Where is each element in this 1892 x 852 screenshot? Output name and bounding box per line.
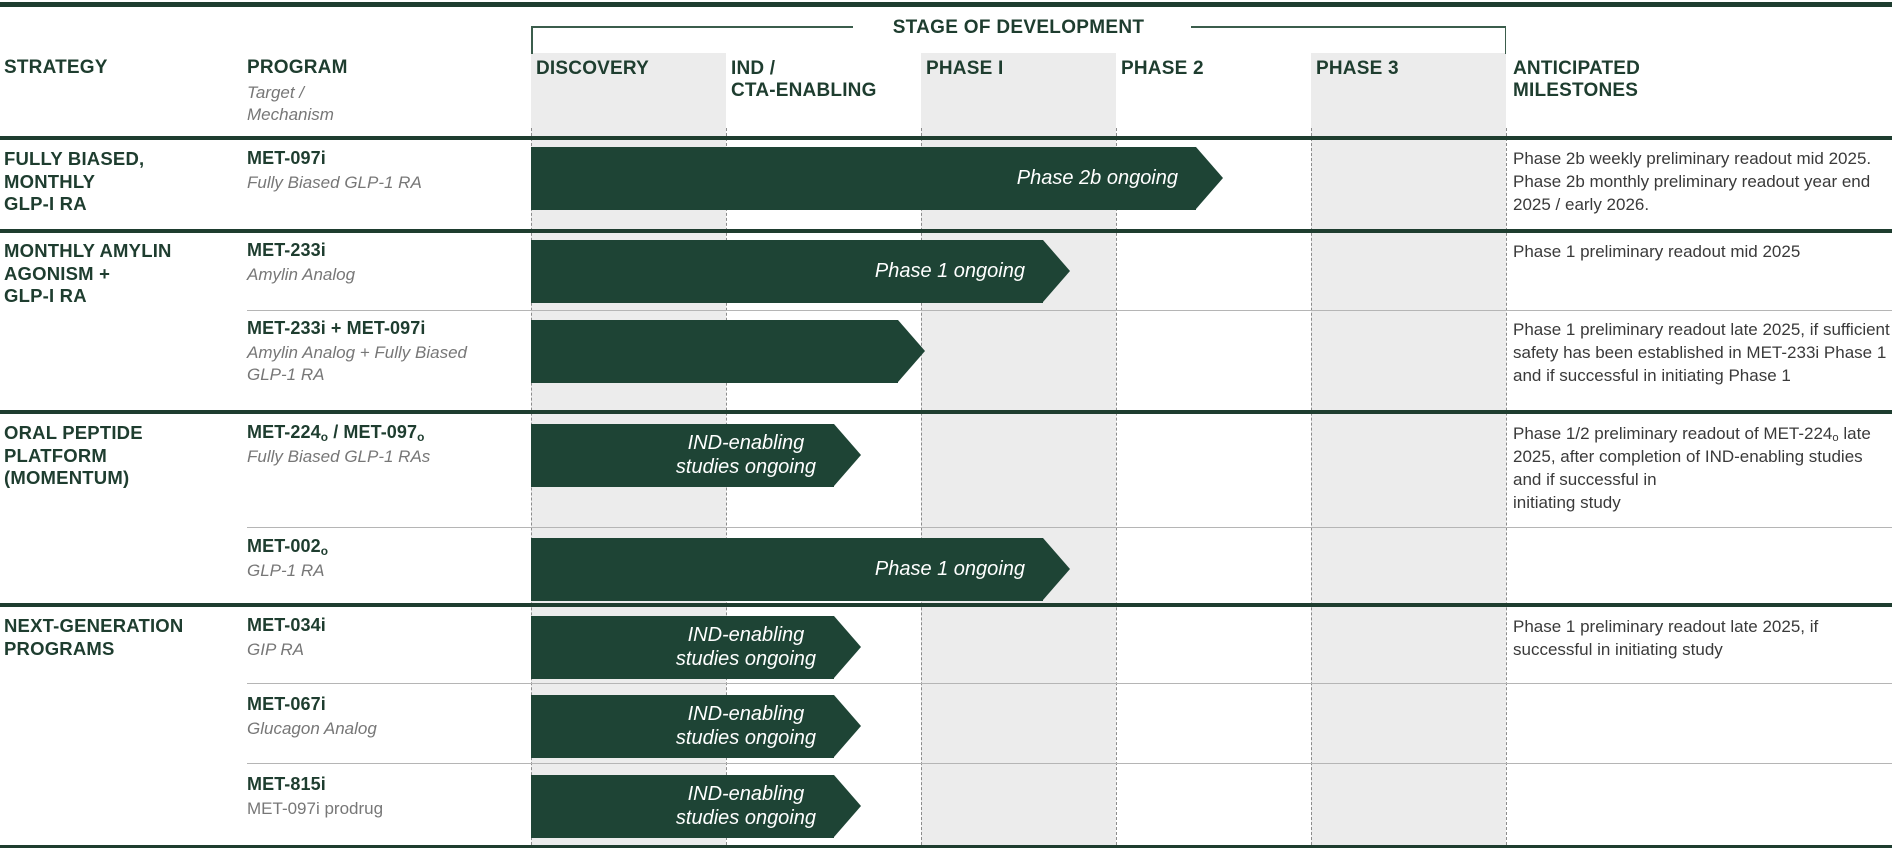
program-met-233i-plus-met-097i: MET-233i + MET-097i Amylin Analog + Full… xyxy=(247,318,522,386)
stage-bar-met-224o-met-097o[interactable]: IND-enabling studies ongoing xyxy=(531,424,834,487)
header-stage-phase-1: PHASE I xyxy=(926,58,1003,80)
arrow-tip-icon xyxy=(1196,147,1223,209)
stage-bar-label: IND-enabling studies ongoing xyxy=(676,783,834,829)
program-mechanism: Fully Biased GLP-1 RA xyxy=(247,172,522,194)
program-met-034i: MET-034i GIP RA xyxy=(247,615,522,661)
program-met-067i: MET-067i Glucagon Analog xyxy=(247,694,522,740)
program-mechanism: Glucagon Analog xyxy=(247,718,522,740)
strategy-next-generation-programs: NEXT-GENERATION PROGRAMS xyxy=(4,615,242,660)
stage-bar-label: IND-enabling studies ongoing xyxy=(676,432,834,478)
arrow-tip-icon xyxy=(898,320,925,382)
program-mechanism: GLP-1 RA xyxy=(247,560,522,582)
stage-bar-met-002o[interactable]: Phase 1 ongoing xyxy=(531,538,1043,601)
header-stage-phase-2: PHASE 2 xyxy=(1121,58,1204,80)
strategy-oral-peptide-platform-momentum: ORAL PEPTIDE PLATFORM (MOMENTUM) xyxy=(4,422,242,490)
program-name: MET-233i + MET-097i xyxy=(247,318,425,338)
sub-rule-4b xyxy=(247,763,1892,764)
program-name: MET-815i xyxy=(247,774,326,794)
header-program: PROGRAM Target / Mechanism xyxy=(247,57,348,126)
top-rule xyxy=(0,2,1892,7)
header-program-sub: Target / Mechanism xyxy=(247,82,348,126)
program-name: MET-224o / MET-097o xyxy=(247,422,424,442)
pipeline-chart: STAGE OF DEVELOPMENT STRATEGY PROGRAM Ta… xyxy=(0,0,1892,852)
stage-of-development-title: STAGE OF DEVELOPMENT xyxy=(531,17,1506,39)
program-met-815i: MET-815i MET-097i prodrug xyxy=(247,774,522,820)
stage-bar-met-034i[interactable]: IND-enabling studies ongoing xyxy=(531,616,834,679)
milestone-met-224o-met-097o: Phase 1/2 preliminary readout of MET-224… xyxy=(1513,422,1891,514)
column-divider-phase1 xyxy=(921,128,922,845)
arrow-tip-icon xyxy=(1043,538,1070,600)
arrow-tip-icon xyxy=(834,616,861,678)
section-rule-2 xyxy=(0,229,1892,233)
strategy-fully-biased-monthly-glp1-ra: FULLY BIASED, MONTHLY GLP-I RA xyxy=(4,148,242,216)
stage-bar-met-233i[interactable]: Phase 1 ongoing xyxy=(531,240,1043,303)
sub-rule-4a xyxy=(247,683,1892,684)
milestone-met-097i: Phase 2b weekly preliminary readout mid … xyxy=(1513,147,1891,216)
header-program-label: PROGRAM xyxy=(247,57,348,78)
stage-bar-label: Phase 1 ongoing xyxy=(875,260,1043,283)
column-band-phase3 xyxy=(1311,53,1506,845)
stage-bar-label: IND-enabling studies ongoing xyxy=(676,624,834,670)
arrow-tip-icon xyxy=(834,424,861,486)
column-divider-phase3 xyxy=(1311,128,1312,845)
section-rule-3 xyxy=(0,410,1892,414)
program-mechanism: Fully Biased GLP-1 RAs xyxy=(247,446,522,468)
section-rule-4 xyxy=(0,603,1892,607)
sub-rule-3a xyxy=(247,527,1892,528)
stage-bar-met-815i[interactable]: IND-enabling studies ongoing xyxy=(531,775,834,838)
stage-bar-met-097i[interactable]: Phase 2b ongoing xyxy=(531,147,1196,210)
program-name: MET-067i xyxy=(247,694,326,714)
stage-bar-met-067i[interactable]: IND-enabling studies ongoing xyxy=(531,695,834,758)
header-stage-discovery: DISCOVERY xyxy=(536,58,649,80)
section-rule-1 xyxy=(0,136,1892,140)
milestone-met-233i: Phase 1 preliminary readout mid 2025 xyxy=(1513,240,1891,263)
column-divider-phase2 xyxy=(1116,128,1117,845)
stage-bar-label: Phase 2b ongoing xyxy=(1017,167,1196,190)
program-name: MET-034i xyxy=(247,615,326,635)
program-met-224o-met-097o: MET-224o / MET-097o Fully Biased GLP-1 R… xyxy=(247,422,522,468)
program-met-097i: MET-097i Fully Biased GLP-1 RA xyxy=(247,148,522,194)
arrow-tip-icon xyxy=(1043,240,1070,302)
header-stage-ind-cta-enabling: IND / CTA-ENABLING xyxy=(731,58,877,103)
program-name: MET-097i xyxy=(247,148,326,168)
column-divider-milestones xyxy=(1506,128,1507,845)
arrow-tip-icon xyxy=(834,775,861,837)
milestone-met-034i: Phase 1 preliminary readout late 2025, i… xyxy=(1513,615,1891,661)
program-met-002o: MET-002o GLP-1 RA xyxy=(247,536,522,582)
header-anticipated-milestones: ANTICIPATED MILESTONES xyxy=(1513,58,1640,103)
program-mechanism: Amylin Analog xyxy=(247,264,522,286)
program-mechanism: GIP RA xyxy=(247,639,522,661)
stage-bar-label: Phase 1 ongoing xyxy=(875,558,1043,581)
bottom-rule xyxy=(0,845,1892,848)
header-strategy: STRATEGY xyxy=(4,57,108,79)
program-mechanism: Amylin Analog + Fully Biased GLP-1 RA xyxy=(247,342,522,386)
program-name: MET-233i xyxy=(247,240,326,260)
program-met-233i: MET-233i Amylin Analog xyxy=(247,240,522,286)
sub-rule-2a xyxy=(247,310,1892,311)
stage-bar-label: IND-enabling studies ongoing xyxy=(676,703,834,749)
header-stage-phase-3: PHASE 3 xyxy=(1316,58,1399,80)
milestone-met-233i-plus-met-097i: Phase 1 preliminary readout late 2025, i… xyxy=(1513,318,1891,387)
arrow-tip-icon xyxy=(834,695,861,757)
stage-bar-met-233i-plus-met-097i[interactable] xyxy=(531,320,898,383)
program-mechanism: MET-097i prodrug xyxy=(247,798,522,820)
strategy-monthly-amylin-agonism-glp1-ra: MONTHLY AMYLIN AGONISM + GLP-I RA xyxy=(4,240,242,308)
program-name: MET-002o xyxy=(247,536,328,556)
